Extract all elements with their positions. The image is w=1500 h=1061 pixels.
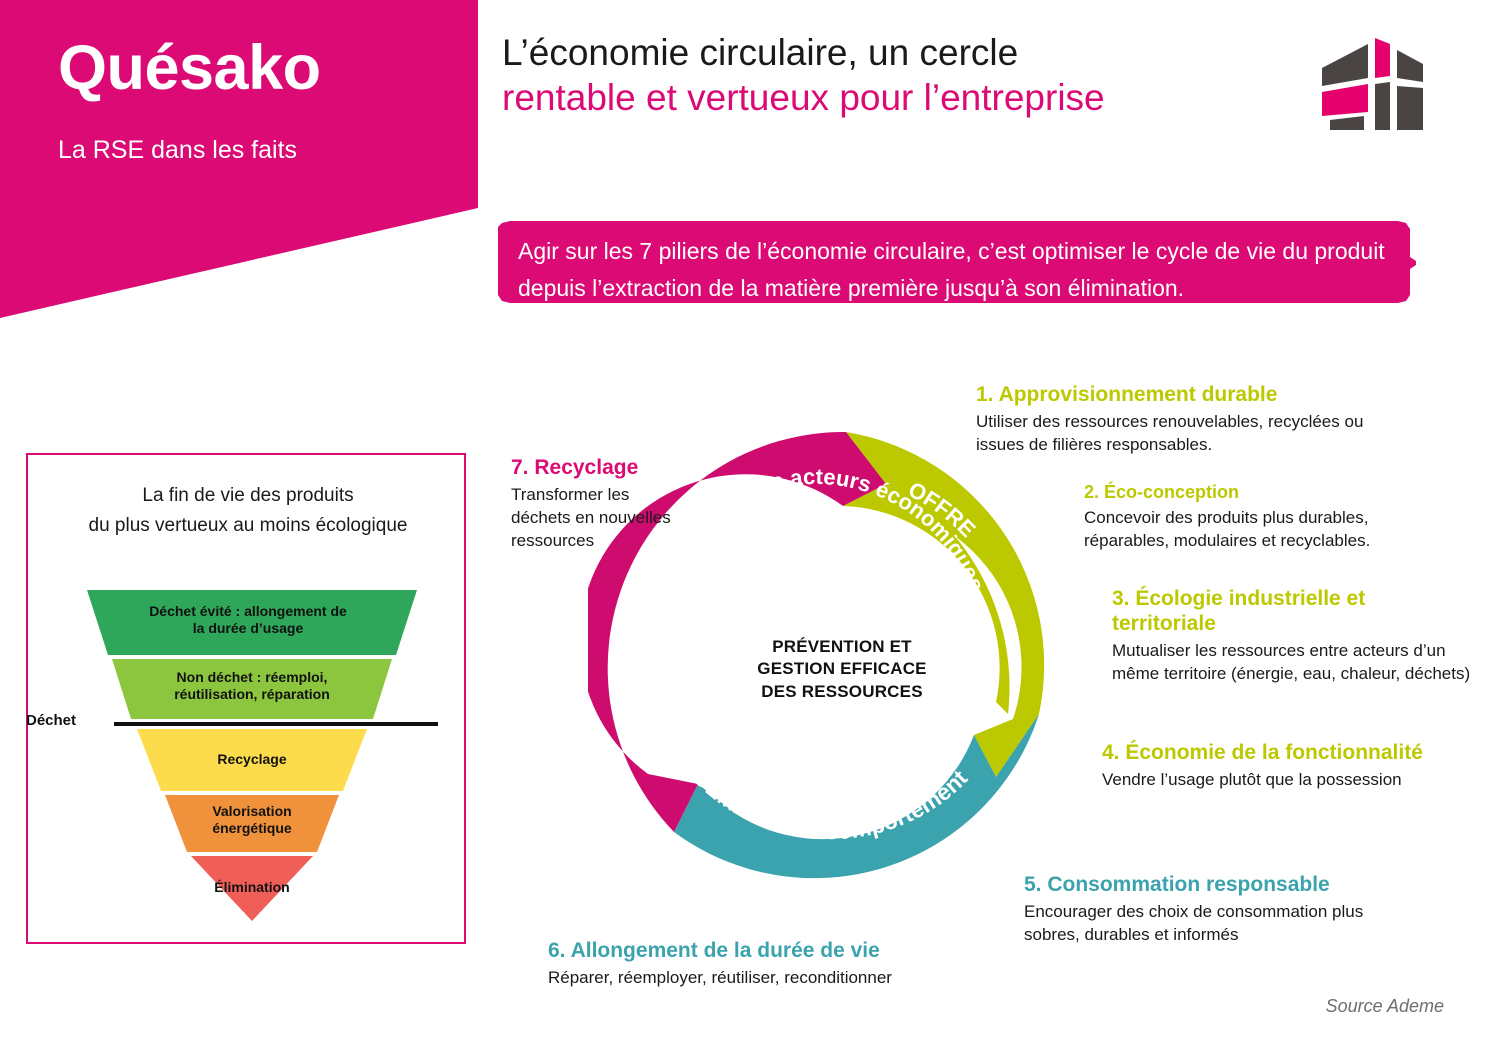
pillar-3-body: Mutualiser les ressources entre acteurs … bbox=[1112, 640, 1472, 686]
center-line-1: PRÉVENTION ET bbox=[772, 637, 912, 656]
funnel-level-1-label: Déchet évité : allongement de la durée d… bbox=[88, 603, 408, 637]
callout-text: Agir sur les 7 piliers de l’économie cir… bbox=[518, 233, 1398, 308]
funnel-level-4-label: Valorisation énergétique bbox=[168, 803, 336, 837]
center-line-3: DES RESSOURCES bbox=[761, 682, 923, 701]
dechet-threshold-label: Déchet bbox=[26, 712, 76, 729]
pillar-3: 3. Écologie industrielle et territoriale… bbox=[1112, 586, 1472, 686]
pillar-2: 2. Éco-conception Concevoir des produits… bbox=[1084, 482, 1434, 552]
headline-line-2: rentable et vertueux pour l’entreprise bbox=[502, 75, 1302, 120]
funnel-level-3-label: Recyclage bbox=[138, 751, 366, 768]
source-attribution: Source Ademe bbox=[1326, 996, 1444, 1017]
pillar-2-title: 2. Éco-conception bbox=[1084, 482, 1434, 504]
page-title: L’économie circulaire, un cercle rentabl… bbox=[502, 30, 1302, 120]
pillar-7-title: 7. Recyclage bbox=[511, 455, 671, 480]
pillar-1-title: 1. Approvisionnement durable bbox=[976, 382, 1376, 407]
pillar-6-body: Réparer, réemployer, réutiliser, recondi… bbox=[548, 967, 978, 990]
funnel-level-1-line-1: Déchet évité : allongement de bbox=[149, 603, 347, 619]
funnel-level-2-label: Non déchet : réemploi, réutilisation, ré… bbox=[112, 669, 392, 703]
funnel-level-2-line-2: réutilisation, réparation bbox=[174, 686, 330, 702]
building-logo-icon bbox=[1320, 30, 1430, 130]
pillar-2-body: Concevoir des produits plus durables, ré… bbox=[1084, 507, 1434, 553]
headline-accent-rule bbox=[470, 28, 476, 138]
pillar-5: 5. Consommation responsable Encourager d… bbox=[1024, 872, 1394, 947]
funnel-level-4-line-2: énergétique bbox=[212, 820, 291, 836]
pillar-1: 1. Approvisionnement durable Utiliser de… bbox=[976, 382, 1376, 457]
pillar-5-title: 5. Consommation responsable bbox=[1024, 872, 1394, 897]
pillar-4-body: Vendre l’usage plutôt que la possession bbox=[1102, 769, 1492, 792]
pillar-3-title: 3. Écologie industrielle et territoriale bbox=[1112, 586, 1472, 636]
waste-hierarchy-panel: La fin de vie des produits du plus vertu… bbox=[26, 453, 466, 944]
pillar-6-title: 6. Allongement de la durée de vie bbox=[548, 938, 978, 963]
pillar-1-body: Utiliser des ressources renouvelables, r… bbox=[976, 411, 1376, 457]
pillar-7-body: Transformer les déchets en nouvelles res… bbox=[511, 484, 671, 553]
center-line-2: GESTION EFFICACE bbox=[757, 659, 926, 678]
pillar-4-title: 4. Économie de la fonctionnalité bbox=[1102, 740, 1492, 765]
funnel-level-5-label: Élimination bbox=[188, 879, 316, 896]
funnel-level-2-line-1: Non déchet : réemploi, bbox=[177, 669, 328, 685]
brand-title: Quésako bbox=[58, 35, 321, 101]
headline-line-1: L’économie circulaire, un cercle bbox=[502, 30, 1302, 75]
pillar-5-body: Encourager des choix de consommation plu… bbox=[1024, 901, 1394, 947]
pillar-7: 7. Recyclage Transformer les déchets en … bbox=[511, 455, 671, 553]
diagram-center-text: PRÉVENTION ET GESTION EFFICACE DES RESSO… bbox=[722, 636, 962, 703]
funnel-level-4-line-1: Valorisation bbox=[212, 803, 291, 819]
pillar-6: 6. Allongement de la durée de vie Répare… bbox=[548, 938, 978, 990]
pillar-4: 4. Économie de la fonctionnalité Vendre … bbox=[1102, 740, 1492, 792]
funnel-level-1-line-2: la durée d’usage bbox=[193, 620, 303, 636]
callout-box: Agir sur les 7 piliers de l’économie cir… bbox=[498, 221, 1416, 303]
brand-subtitle: La RSE dans les faits bbox=[58, 136, 297, 165]
